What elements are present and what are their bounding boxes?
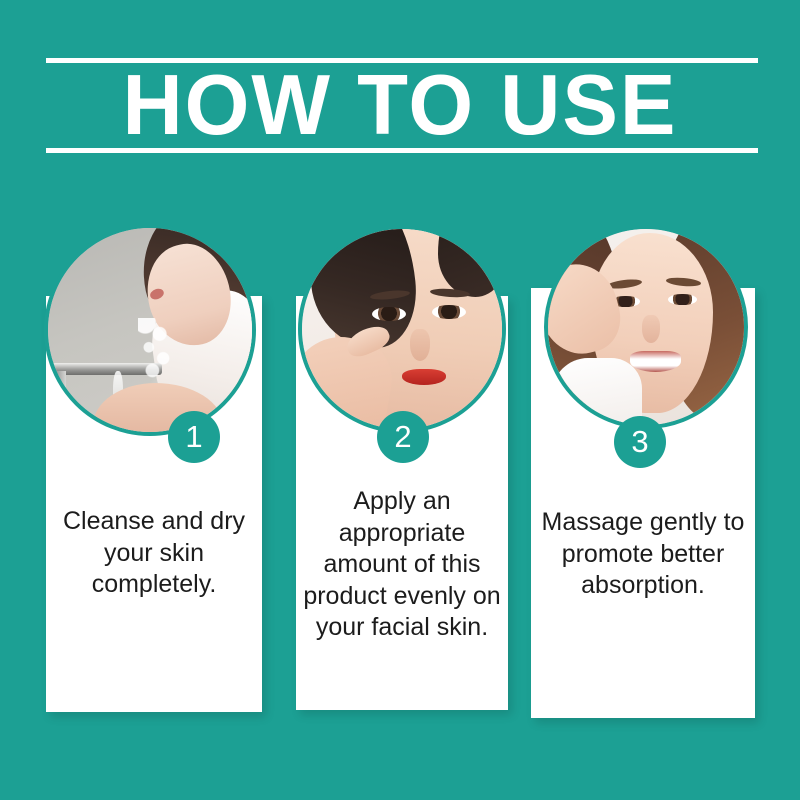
faucet-stem-shape [54, 371, 66, 408]
step-number-badge-3: 3 [614, 416, 666, 468]
steps-container: 1 Cleanse and dry your skin completely. [0, 0, 800, 800]
step-caption-2: Apply an appropriate amount of this prod… [300, 486, 504, 644]
step-photo-3 [544, 225, 748, 429]
nose-shape [410, 329, 430, 361]
eye-left-shape [372, 307, 406, 321]
nose-shape [642, 315, 660, 342]
step-caption-1: Cleanse and dry your skin completely. [54, 506, 254, 601]
step-caption-3: Massage gently to promote better absorpt… [531, 507, 755, 602]
woman-applying-product-image [302, 229, 502, 429]
lips-shape [402, 369, 446, 385]
step-photo-2 [298, 225, 506, 433]
eye-right-shape [432, 305, 466, 319]
step-number-badge-2: 2 [377, 411, 429, 463]
smiling-woman-image [548, 229, 744, 425]
step-number-badge-1: 1 [168, 411, 220, 463]
water-droplets-shape [138, 318, 175, 379]
woman-washing-face-image [48, 228, 252, 432]
step-photo-1 [44, 224, 256, 436]
how-to-use-poster: HOW TO USE 1 [0, 0, 800, 800]
